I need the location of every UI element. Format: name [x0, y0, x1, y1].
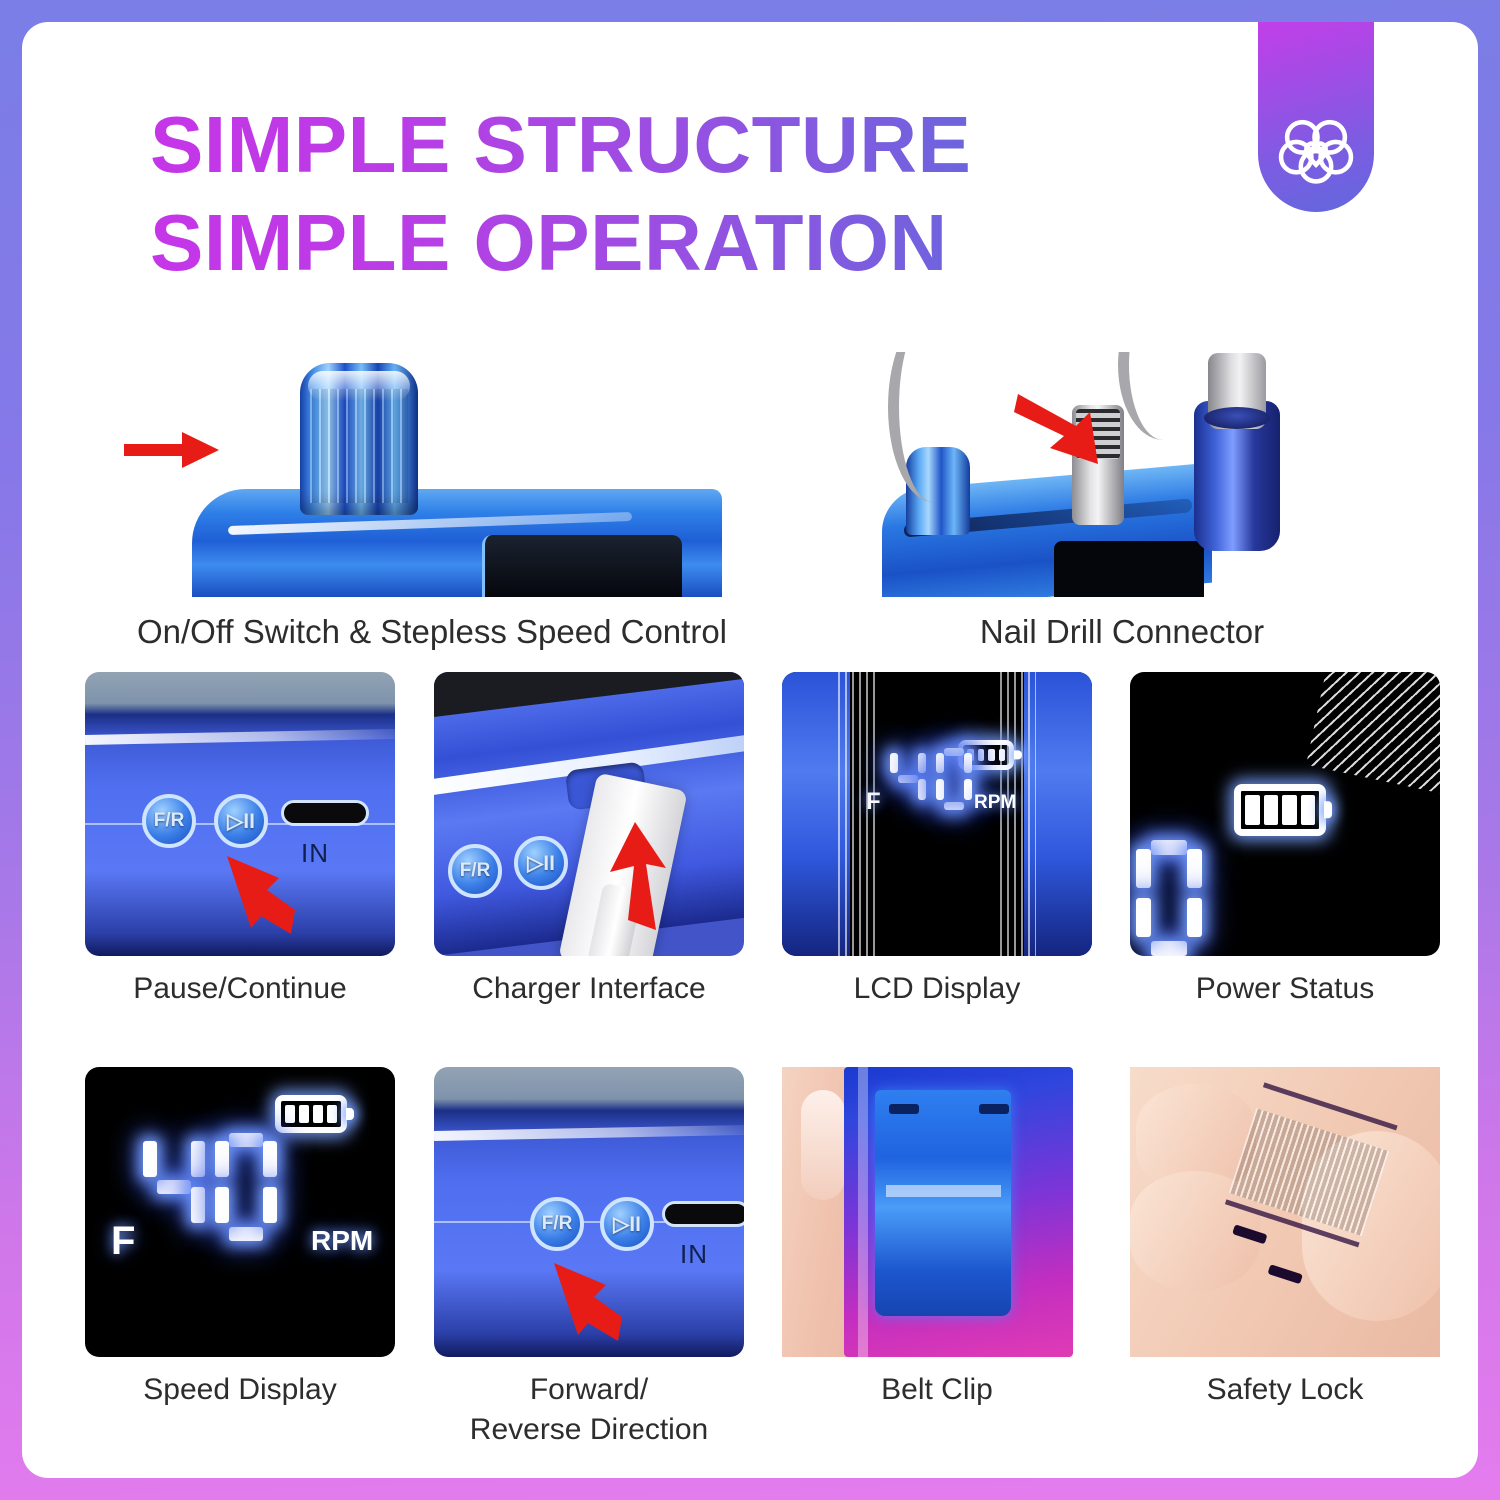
knurled-grip [1229, 1108, 1390, 1236]
pause-continue-photo: F/R ▷II IN [85, 672, 395, 956]
on-off-switch-photo [82, 352, 782, 597]
lcd-display-photo: F RPM [782, 672, 1092, 956]
speed-value [890, 748, 972, 810]
feature-lcd-display: F RPM LCD Display [782, 672, 1092, 1008]
seven-segment-digit [890, 748, 926, 810]
caption-belt-clip: Belt Clip [782, 1371, 1092, 1409]
usb-c-port [662, 1201, 744, 1227]
fr-button[interactable]: F/R [448, 844, 502, 898]
feature-charger-interface: F/R ▷II Charger Interface [434, 672, 744, 1008]
page-title: SIMPLE STRUCTURE SIMPLE OPERATION [150, 96, 1230, 291]
headline-line-2: SIMPLE OPERATION [150, 194, 1230, 292]
device-screen [1054, 541, 1204, 597]
caption-forward-reverse-line2: Reverse Direction [434, 1411, 744, 1449]
seven-segment-digit [215, 1133, 277, 1241]
battery-icon [275, 1095, 347, 1133]
handpiece [1194, 401, 1280, 551]
safety-lock-slot [1232, 1224, 1267, 1244]
play-pause-button[interactable]: ▷II [514, 836, 568, 890]
up-arrow-icon [600, 822, 670, 932]
feature-on-off-switch: On/Off Switch & Stepless Speed Control [82, 352, 782, 653]
speed-value [143, 1133, 277, 1241]
rpm-unit-label: RPM [974, 792, 1016, 814]
flower-heart-logo-icon [1278, 110, 1354, 186]
play-pause-button[interactable]: ▷II [214, 794, 268, 848]
rpm-unit-label: RPM [311, 1225, 373, 1257]
forward-reverse-photo: F/R ▷II IN [434, 1067, 744, 1357]
caption-pause-continue: Pause/Continue [85, 970, 395, 1008]
feature-nail-drill-connector: Nail Drill Connector [822, 352, 1422, 653]
play-pause-button[interactable]: ▷II [600, 1197, 654, 1251]
infographic-page: SIMPLE STRUCTURE SIMPLE OPERATION [22, 22, 1478, 1478]
caption-safety-lock: Safety Lock [1130, 1371, 1440, 1409]
belt-clip [875, 1090, 1011, 1316]
up-left-arrow-icon [215, 850, 295, 940]
knob-ridges [310, 389, 408, 503]
device-screen [482, 535, 682, 597]
seven-segment-digit [1136, 840, 1202, 956]
speed-display-photo: F RPM [85, 1067, 395, 1357]
port-in-label: IN [680, 1239, 708, 1270]
caption-forward-reverse-line1: Forward/ [434, 1371, 744, 1409]
feature-safety-lock: Safety Lock [1130, 1067, 1440, 1409]
direction-indicator: F [866, 788, 881, 816]
fingernail [801, 1090, 845, 1200]
fr-button[interactable]: F/R [530, 1197, 584, 1251]
usb-c-port [281, 800, 369, 826]
battery-icon [1234, 784, 1326, 836]
speed-knob [300, 363, 418, 515]
lcd-screen [875, 672, 999, 956]
edge-texture-right [993, 672, 1036, 956]
brand-logo-badge [1258, 22, 1374, 212]
seven-segment-digit [143, 1133, 205, 1241]
nail-drill-connector-photo [822, 352, 1422, 597]
power-status-photo [1130, 672, 1440, 956]
caption-speed-display: Speed Display [85, 1371, 395, 1409]
fr-button[interactable]: F/R [142, 794, 196, 848]
feature-pause-continue: F/R ▷II IN Pause/Continue [85, 672, 395, 1008]
caption-power-status: Power Status [1130, 970, 1440, 1008]
charger-interface-photo: F/R ▷II [434, 672, 744, 956]
safety-lock-photo [1130, 1067, 1440, 1357]
direction-indicator: F [111, 1219, 135, 1264]
caption-lcd-display: LCD Display [782, 970, 1092, 1008]
up-left-arrow-icon [542, 1257, 622, 1347]
caption-nail-drill-connector: Nail Drill Connector [822, 611, 1422, 653]
down-right-arrow-icon [1014, 386, 1124, 476]
safety-lock-slot [1267, 1264, 1302, 1284]
port-in-label: IN [301, 838, 329, 869]
feature-power-status: Power Status [1130, 672, 1440, 1008]
seven-segment-digit [936, 748, 972, 810]
caption-charger-interface: Charger Interface [434, 970, 744, 1008]
partial-speed-digit [1136, 840, 1202, 956]
caption-on-off-switch: On/Off Switch & Stepless Speed Control [82, 611, 782, 653]
feature-belt-clip: Belt Clip [782, 1067, 1092, 1409]
edge-texture [1306, 672, 1440, 796]
feature-forward-reverse: F/R ▷II IN Forward/ Reverse Direction [434, 1067, 744, 1450]
belt-clip-photo [782, 1067, 1092, 1357]
feature-speed-display: F RPM Speed Display [85, 1067, 395, 1409]
headline-line-1: SIMPLE STRUCTURE [150, 96, 1230, 194]
right-arrow-icon [124, 430, 219, 470]
